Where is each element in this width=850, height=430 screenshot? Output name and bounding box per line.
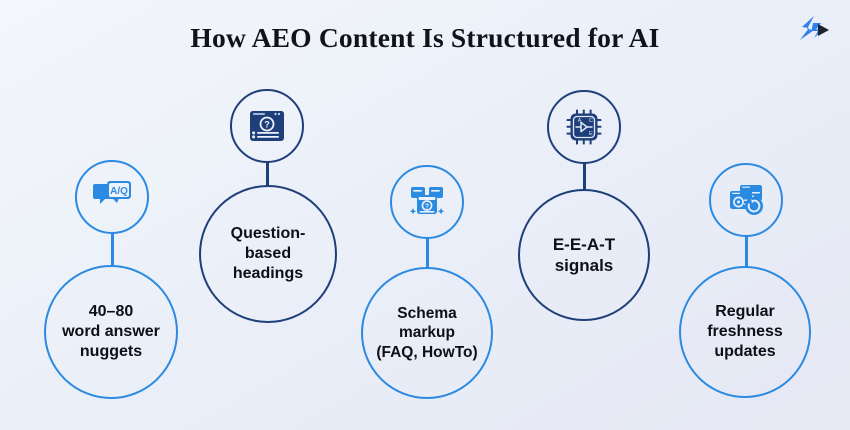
icon-bubble-schema-markup[interactable]: ? [390, 165, 464, 239]
microchip-icon: A C E [565, 108, 603, 146]
node-label-schema-markup: Schema markup (FAQ, HowTo) [368, 304, 485, 363]
connector-line-question-headings [266, 161, 269, 187]
faq-browser-window-icon: ? [248, 107, 286, 145]
text-bubble-freshness-updates[interactable]: Regular freshness updates [679, 266, 811, 398]
icon-bubble-answer-nuggets[interactable]: A/Q [75, 160, 149, 234]
text-bubble-eeat-signals[interactable]: E-E-A-T signals [518, 189, 650, 321]
page-title: How AEO Content Is Structured for AI [0, 22, 850, 54]
svg-text:?: ? [425, 204, 429, 211]
icon-bubble-freshness-updates[interactable] [709, 163, 783, 237]
connector-line-schema-markup [426, 237, 429, 269]
brand-logo-icon [798, 14, 832, 46]
text-bubble-schema-markup[interactable]: Schema markup (FAQ, HowTo) [361, 267, 493, 399]
svg-text:A/Q: A/Q [110, 186, 128, 197]
node-label-answer-nuggets: 40–80 word answer nuggets [54, 302, 168, 362]
connector-line-eeat-signals [583, 162, 586, 191]
connector-line-freshness-updates [745, 235, 748, 268]
node-label-question-headings: Question- based headings [223, 224, 314, 284]
icon-bubble-eeat-signals[interactable]: A C E [547, 90, 621, 164]
svg-text:?: ? [264, 120, 270, 130]
node-label-freshness-updates: Regular freshness updates [699, 302, 791, 362]
svg-text:E: E [589, 131, 593, 137]
refresh-windows-icon [727, 181, 765, 219]
brand-logo[interactable] [798, 14, 832, 46]
icon-bubble-question-headings[interactable]: ? [230, 89, 304, 163]
infographic-canvas: How AEO Content Is Structured for AI A/Q… [0, 0, 850, 430]
connector-line-answer-nuggets [111, 232, 114, 267]
schema-cards-question-icon: ? [408, 183, 446, 221]
text-bubble-answer-nuggets[interactable]: 40–80 word answer nuggets [44, 265, 178, 399]
text-bubble-question-headings[interactable]: Question- based headings [199, 185, 337, 323]
svg-text:C: C [589, 118, 593, 124]
svg-text:A: A [578, 118, 582, 124]
node-label-eeat-signals: E-E-A-T signals [545, 234, 623, 277]
qa-speech-bubbles-icon: A/Q [93, 178, 131, 216]
